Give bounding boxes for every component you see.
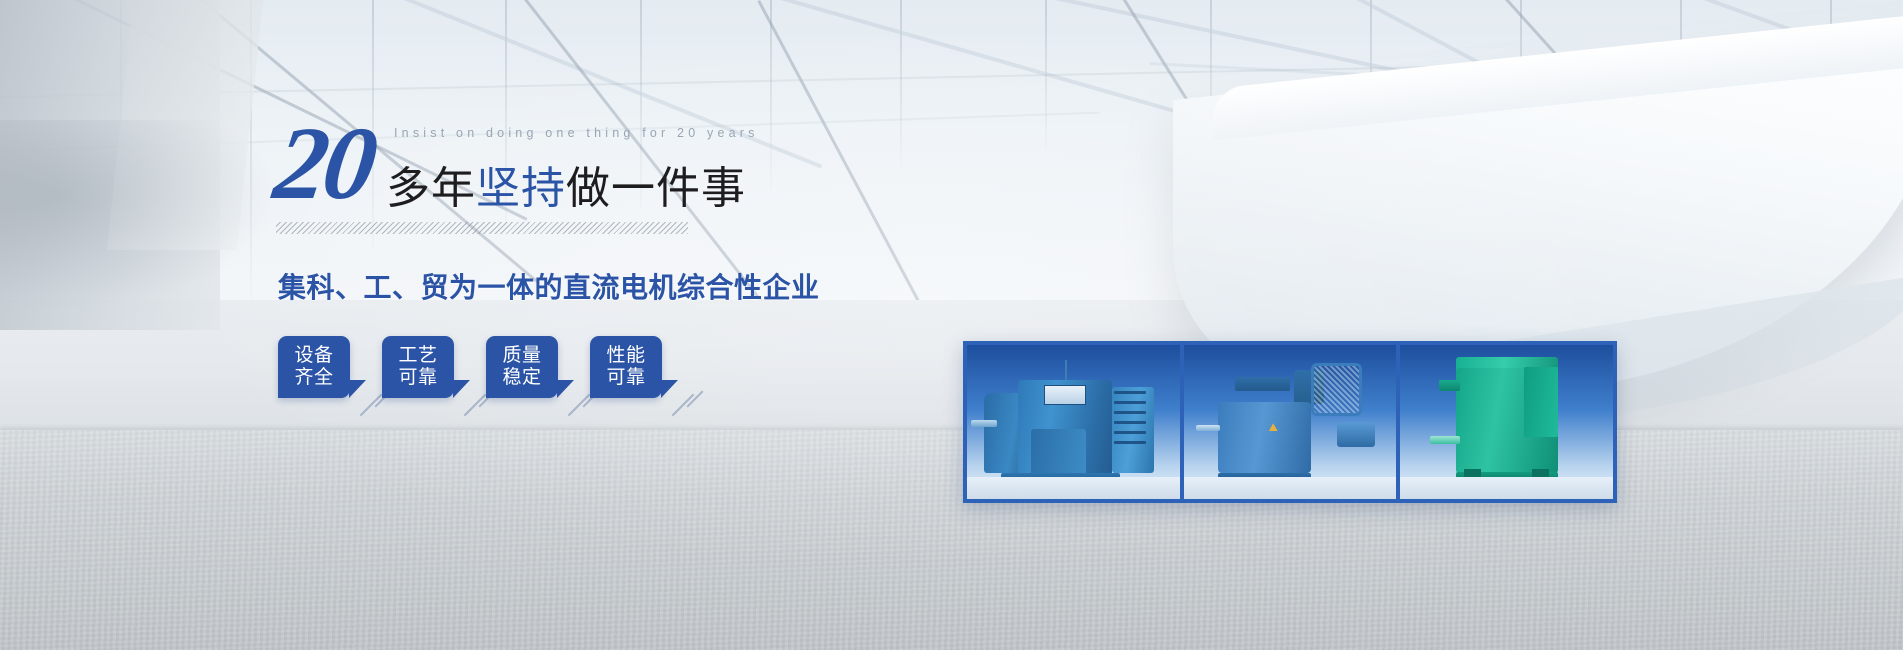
- feature-badge-1-line1: 设备: [294, 345, 333, 367]
- english-tagline: Insist on doing one thing for 20 years: [394, 126, 759, 140]
- product-gallery: [963, 341, 1617, 503]
- headline-number: 20: [269, 112, 380, 216]
- feature-badge-3[interactable]: 质量 稳定: [486, 336, 558, 398]
- feature-badge-4[interactable]: 性能 可靠: [590, 336, 662, 398]
- product-image-3[interactable]: [1400, 345, 1613, 499]
- badge-tail-icon: [557, 380, 574, 398]
- feature-badge-4-line2: 可靠: [606, 367, 645, 389]
- feature-badge-2-line1: 工艺: [398, 345, 437, 367]
- headline-chinese-prefix: 多年: [386, 164, 476, 213]
- product-image-2[interactable]: [1184, 345, 1397, 499]
- sub-headline: 集科、工、贸为一体的直流电机综合性企业: [278, 266, 820, 306]
- feature-badge-1[interactable]: 设备 齐全: [278, 336, 350, 398]
- headline-chinese-suffix: 做一件事: [566, 164, 746, 213]
- badge-tail-icon: [349, 380, 366, 398]
- badge-tail-icon: [661, 380, 678, 398]
- feature-badge-1-line2: 齐全: [294, 367, 333, 389]
- feature-badge-4-line1: 性能: [606, 345, 645, 367]
- hatched-divider: [276, 222, 688, 234]
- background-floor: [0, 430, 1903, 650]
- headline-chinese: 多年坚持做一件事: [386, 152, 746, 216]
- product-image-1[interactable]: [967, 345, 1180, 499]
- background-left-shadow: [0, 120, 280, 310]
- banner-copy: 20 Insist on doing one thing for 20 year…: [276, 118, 976, 214]
- feature-badge-list: 设备 齐全 工艺 可靠 质量 稳定 性能: [278, 336, 662, 398]
- feature-badge-3-line2: 稳定: [502, 367, 541, 389]
- headline-chinese-highlight: 坚持: [476, 164, 566, 213]
- feature-badge-2-line2: 可靠: [398, 367, 437, 389]
- hero-banner: 20 Insist on doing one thing for 20 year…: [0, 0, 1903, 650]
- headline-row: 20 Insist on doing one thing for 20 year…: [276, 118, 976, 214]
- feature-badge-2[interactable]: 工艺 可靠: [382, 336, 454, 398]
- badge-tail-icon: [453, 380, 470, 398]
- feature-badge-3-line1: 质量: [502, 345, 541, 367]
